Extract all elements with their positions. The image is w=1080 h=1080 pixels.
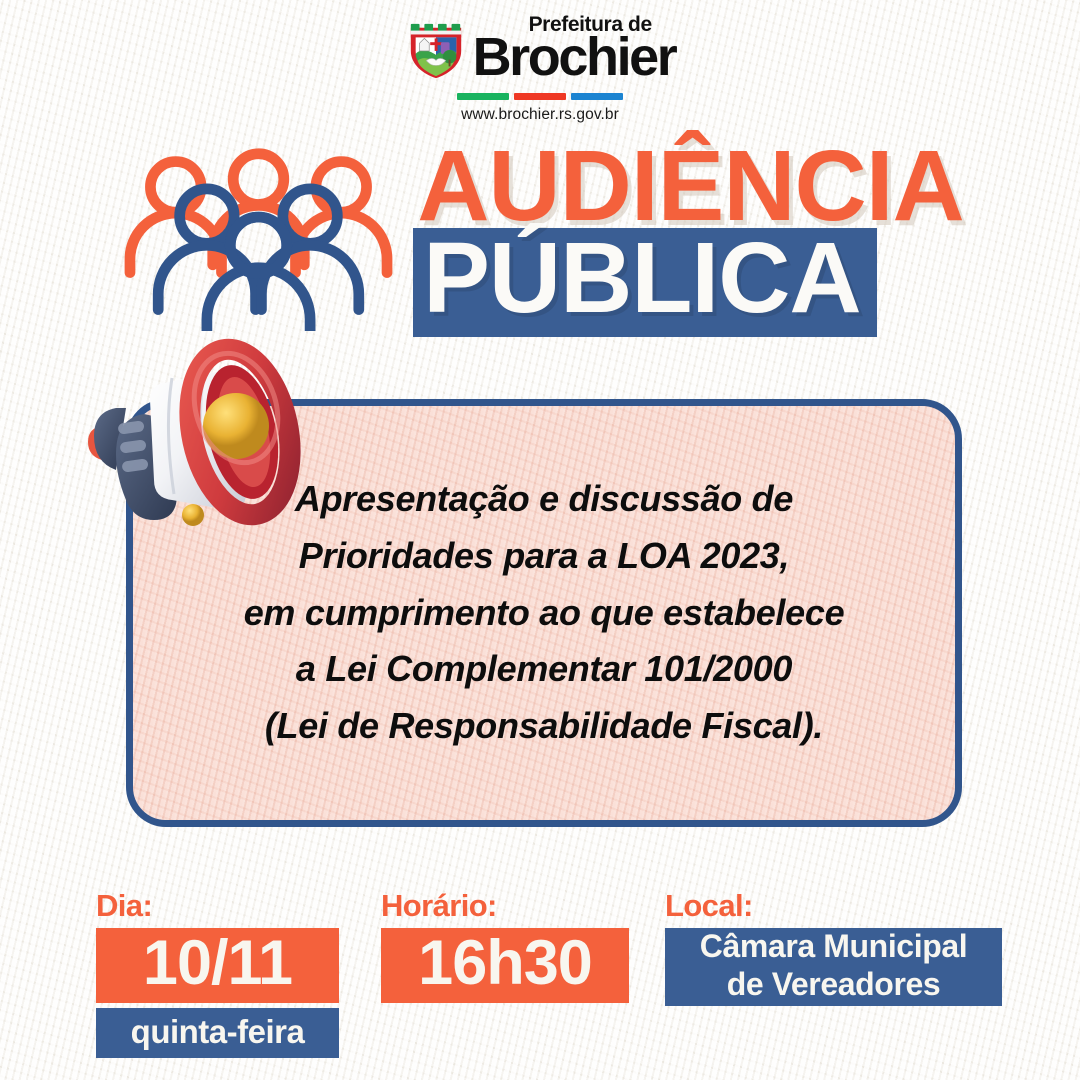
- info-block-place: Local: Câmara Municipal de Vereadores: [665, 890, 1002, 1006]
- title-line-publica-block: PÚBLICA: [413, 228, 876, 337]
- poster-canvas: Prefeitura de Brochier www.brochier.rs.g…: [0, 0, 1080, 1080]
- green-bar: [457, 93, 509, 100]
- place-value-line2: de Vereadores: [727, 966, 941, 1004]
- day-label: Dia:: [96, 890, 339, 921]
- time-label: Horário:: [381, 890, 629, 921]
- title-words: AUDIÊNCIA PÚBLICA: [413, 138, 964, 337]
- info-block-day: Dia: 10/11 quinta-feira: [96, 890, 339, 1058]
- announcement-line: Apresentação e discussão de: [244, 471, 845, 528]
- brand-color-bars: [457, 93, 623, 100]
- day-weekday: quinta-feira: [96, 1008, 339, 1058]
- website-url: www.brochier.rs.gov.br: [461, 106, 619, 124]
- place-value: Câmara Municipal de Vereadores: [665, 928, 1002, 1006]
- announcement-line: a Lei Complementar 101/2000: [244, 641, 845, 698]
- brochier-coat-of-arms-icon: [405, 18, 467, 80]
- place-value-line1: Câmara Municipal: [700, 928, 967, 966]
- place-label: Local:: [665, 890, 1002, 921]
- logo-wordmark: Prefeitura de Brochier: [473, 14, 676, 84]
- day-value: 10/11: [96, 928, 339, 1003]
- title-line-audiencia: AUDIÊNCIA: [413, 138, 964, 234]
- title-line-publica: PÚBLICA: [423, 229, 860, 327]
- announcement-line: em cumprimento ao que estabelece: [244, 585, 845, 642]
- header-logo-block: Prefeitura de Brochier www.brochier.rs.g…: [0, 14, 1080, 124]
- announcement-line: (Lei de Responsabilidade Fiscal).: [244, 698, 845, 755]
- info-block-time: Horário: 16h30: [381, 890, 629, 1003]
- time-value: 16h30: [381, 928, 629, 1003]
- people-group-icon: [116, 146, 401, 331]
- red-bar: [514, 93, 566, 100]
- title-zone: AUDIÊNCIA PÚBLICA: [0, 138, 1080, 343]
- city-name: Brochier: [473, 30, 676, 84]
- megaphone-icon: [58, 330, 318, 575]
- blue-bar: [571, 93, 623, 100]
- announcement-line: Prioridades para a LOA 2023,: [244, 528, 845, 585]
- logo-row: Prefeitura de Brochier: [405, 14, 676, 84]
